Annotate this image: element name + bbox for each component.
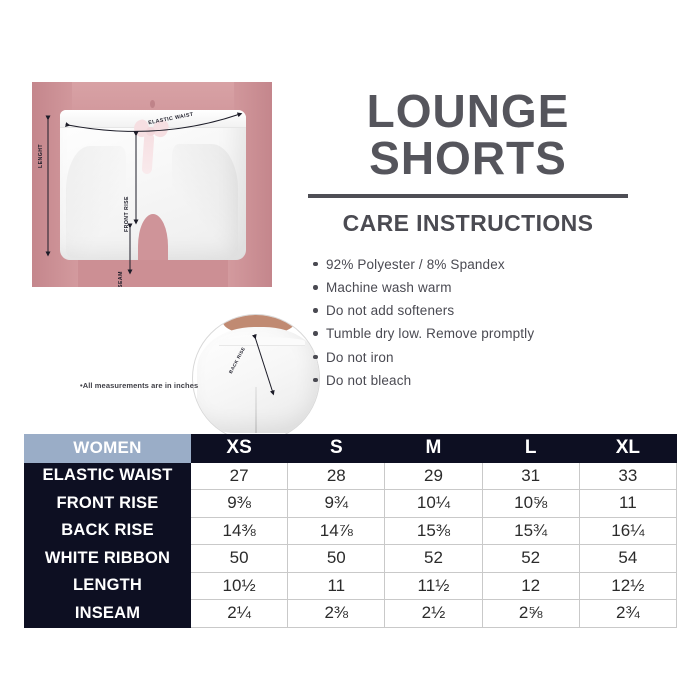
table-header-row: WOMEN XS S M L XL bbox=[25, 435, 677, 463]
table-cell: 14⅜ bbox=[191, 517, 288, 545]
table-cell: 2¼ bbox=[191, 600, 288, 628]
table-cell: 11½ bbox=[385, 572, 482, 600]
measurement-footnote: •All measurements are in inches bbox=[80, 381, 198, 390]
table-cell: 2¾ bbox=[579, 600, 676, 628]
table-row: LENGTH 10½ 11 11½ 12 12½ bbox=[25, 572, 677, 600]
table-cell: 2½ bbox=[385, 600, 482, 628]
table-cell: 2⅝ bbox=[482, 600, 579, 628]
table-row: BACK RISE 14⅜ 14⅞ 15⅜ 15¾ 16¼ bbox=[25, 517, 677, 545]
row-label: FRONT RISE bbox=[25, 490, 191, 518]
table-cell: 10½ bbox=[191, 572, 288, 600]
page-title-line1: LOUNGE bbox=[308, 88, 628, 135]
table-cell: 15¾ bbox=[482, 517, 579, 545]
table-cell: 2⅜ bbox=[288, 600, 385, 628]
table-cell: 12 bbox=[482, 572, 579, 600]
row-label: ELASTIC WAIST bbox=[25, 462, 191, 490]
annotation-length: LENGHT bbox=[38, 144, 44, 168]
list-item: Do not iron bbox=[326, 346, 628, 369]
size-chart-table-wrapper: WOMEN XS S M L XL ELASTIC WAIST 27 28 29… bbox=[24, 434, 676, 628]
table-cell: 50 bbox=[191, 545, 288, 573]
table-cell: 11 bbox=[579, 490, 676, 518]
bow-knot bbox=[146, 127, 155, 136]
drawstring-bow bbox=[134, 120, 168, 174]
table-cell: 9¾ bbox=[288, 490, 385, 518]
list-item: Machine wash warm bbox=[326, 276, 628, 299]
list-item: Do not add softeners bbox=[326, 299, 628, 322]
title-divider bbox=[308, 194, 628, 198]
column-header-s: S bbox=[288, 435, 385, 463]
title-and-care-section: LOUNGE SHORTS CARE INSTRUCTIONS 92% Poly… bbox=[308, 88, 628, 392]
table-cell: 31 bbox=[482, 462, 579, 490]
table-cell: 10¼ bbox=[385, 490, 482, 518]
left-leg-shading bbox=[66, 146, 126, 258]
product-photo: ELASTIC WAIST LENGHT FRONT RISE INSEAM B… bbox=[32, 82, 272, 287]
table-cell: 15⅜ bbox=[385, 517, 482, 545]
table-cell: 11 bbox=[288, 572, 385, 600]
table-cell: 29 bbox=[385, 462, 482, 490]
table-cell: 28 bbox=[288, 462, 385, 490]
column-header-m: M bbox=[385, 435, 482, 463]
table-cell: 10⅝ bbox=[482, 490, 579, 518]
table-row: WHITE RIBBON 50 50 52 52 54 bbox=[25, 545, 677, 573]
row-label: BACK RISE bbox=[25, 517, 191, 545]
column-header-xs: XS bbox=[191, 435, 288, 463]
row-label: WHITE RIBBON bbox=[25, 545, 191, 573]
size-chart-table: WOMEN XS S M L XL ELASTIC WAIST 27 28 29… bbox=[24, 434, 677, 628]
table-row: INSEAM 2¼ 2⅜ 2½ 2⅝ 2¾ bbox=[25, 600, 677, 628]
care-instructions-heading: CARE INSTRUCTIONS bbox=[308, 210, 628, 237]
care-instructions-list: 92% Polyester / 8% Spandex Machine wash … bbox=[308, 253, 628, 392]
table-cell: 33 bbox=[579, 462, 676, 490]
table-corner-header: WOMEN bbox=[25, 435, 191, 463]
annotation-inseam: INSEAM bbox=[118, 271, 124, 287]
list-item: 92% Polyester / 8% Spandex bbox=[326, 253, 628, 276]
product-photo-image: ELASTIC WAIST LENGHT FRONT RISE INSEAM bbox=[32, 82, 272, 287]
row-label: INSEAM bbox=[25, 600, 191, 628]
table-cell: 9⅜ bbox=[191, 490, 288, 518]
shorts-garment bbox=[60, 110, 246, 260]
column-header-l: L bbox=[482, 435, 579, 463]
table-cell: 16¼ bbox=[579, 517, 676, 545]
table-cell: 52 bbox=[482, 545, 579, 573]
model-navel bbox=[150, 100, 155, 108]
back-rise-arrow bbox=[193, 315, 320, 442]
back-view-inset bbox=[192, 314, 320, 442]
table-cell: 50 bbox=[288, 545, 385, 573]
table-cell: 14⅞ bbox=[288, 517, 385, 545]
table-cell: 52 bbox=[385, 545, 482, 573]
column-header-xl: XL bbox=[579, 435, 676, 463]
page-title-line2: SHORTS bbox=[308, 135, 628, 182]
table-row: ELASTIC WAIST 27 28 29 31 33 bbox=[25, 462, 677, 490]
inseam-notch bbox=[138, 214, 168, 260]
right-leg-shading bbox=[172, 144, 238, 258]
annotation-front-rise: FRONT RISE bbox=[124, 196, 130, 232]
top-section: ELASTIC WAIST LENGHT FRONT RISE INSEAM B… bbox=[0, 0, 700, 415]
list-item: Tumble dry low. Remove promptly bbox=[326, 322, 628, 345]
table-cell: 12½ bbox=[579, 572, 676, 600]
table-cell: 54 bbox=[579, 545, 676, 573]
bow-tail bbox=[142, 134, 155, 175]
row-label: LENGTH bbox=[25, 572, 191, 600]
table-row: FRONT RISE 9⅜ 9¾ 10¼ 10⅝ 11 bbox=[25, 490, 677, 518]
list-item: Do not bleach bbox=[326, 369, 628, 392]
table-cell: 27 bbox=[191, 462, 288, 490]
